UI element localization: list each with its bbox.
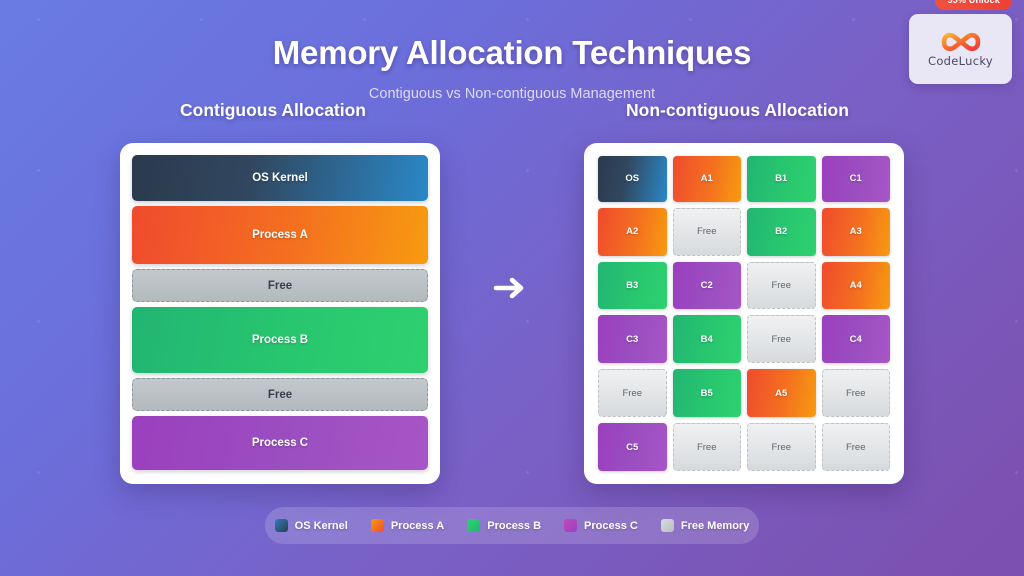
memory-block[interactable]: OS Kernel [132,155,428,201]
legend-item: Process B [467,519,541,532]
legend-label: Free Memory [681,520,749,532]
memory-frame[interactable]: OS [598,156,667,202]
legend-swatch-icon [467,519,480,532]
memory-block-free[interactable]: Free [132,378,428,411]
noncontiguous-panel: OSA1B1C1A2FreeB2A3B3C2FreeA4C3B4FreeC4Fr… [584,143,904,484]
memory-block[interactable]: Process A [132,206,428,264]
legend-item: Free Memory [661,519,749,532]
legend-item: OS Kernel [275,519,348,532]
legend-item: Process A [371,519,444,532]
memory-frame[interactable]: B2 [747,208,816,256]
memory-frame[interactable]: B1 [747,156,816,202]
legend-label: Process C [584,520,638,532]
memory-frame[interactable]: A5 [747,369,816,417]
page-title: Memory Allocation Techniques [0,34,1024,72]
legend-label: OS Kernel [295,520,348,532]
memory-frame[interactable]: B4 [673,315,742,363]
noncontiguous-heading: Non-contiguous Allocation [626,100,849,121]
legend-label: Process A [391,520,444,532]
memory-frame-free[interactable]: Free [673,208,742,256]
memory-frame-free[interactable]: Free [822,369,891,417]
page-subtitle: Contiguous vs Non-contiguous Management [0,86,1024,102]
memory-frame-free[interactable]: Free [747,423,816,471]
memory-frame[interactable]: B3 [598,262,667,310]
codelucky-logo[interactable]: CodeLucky [909,14,1012,84]
memory-frame[interactable]: C2 [673,262,742,310]
contiguous-heading: Contiguous Allocation [180,100,366,121]
legend: OS KernelProcess AProcess BProcess CFree… [265,507,759,544]
contiguous-panel: OS KernelProcess AFreeProcess BFreeProce… [120,143,440,484]
memory-frame-grid: OSA1B1C1A2FreeB2A3B3C2FreeA4C3B4FreeC4Fr… [598,156,890,471]
memory-frame[interactable]: C5 [598,423,667,471]
legend-swatch-icon [564,519,577,532]
legend-swatch-icon [275,519,288,532]
memory-frame-free[interactable]: Free [598,369,667,417]
memory-frame-free[interactable]: Free [747,262,816,310]
arrow-right-icon [492,272,530,304]
promo-badge[interactable]: 55% Unlock [935,0,1012,10]
legend-swatch-icon [371,519,384,532]
memory-frame[interactable]: C3 [598,315,667,363]
memory-frame[interactable]: A4 [822,262,891,310]
memory-frame[interactable]: A1 [673,156,742,202]
legend-item: Process C [564,519,638,532]
memory-block-free[interactable]: Free [132,269,428,302]
memory-frame-free[interactable]: Free [822,423,891,471]
infinity-icon [938,31,984,53]
legend-label: Process B [487,520,541,532]
memory-frame-free[interactable]: Free [747,315,816,363]
memory-frame[interactable]: B5 [673,369,742,417]
memory-block-list: OS KernelProcess AFreeProcess BFreeProce… [132,155,428,472]
memory-block[interactable]: Process B [132,307,428,373]
legend-swatch-icon [661,519,674,532]
memory-frame[interactable]: C4 [822,315,891,363]
memory-block[interactable]: Process C [132,416,428,470]
logo-text: CodeLucky [928,54,993,68]
memory-frame[interactable]: C1 [822,156,891,202]
memory-frame-free[interactable]: Free [673,423,742,471]
memory-frame[interactable]: A2 [598,208,667,256]
memory-frame[interactable]: A3 [822,208,891,256]
